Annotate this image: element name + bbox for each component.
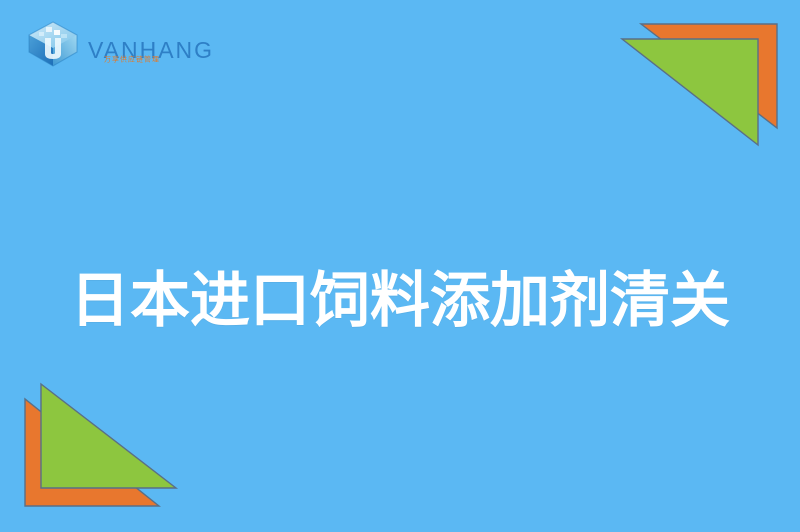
brand-subtitle: 万享供应链管理 [104,56,160,63]
page-title: 日本进口饲料添加剂清关 [70,268,730,335]
bottom-left-green-triangle [41,384,176,488]
slide-canvas: VANHANG 万享供应链管理 日本进口饲料添加剂清关 [0,0,800,532]
brand-logo-text: VANHANG 万享供应链管理 [88,39,214,62]
brand-logo: VANHANG 万享供应链管理 [24,18,214,80]
title-container: 日本进口饲料添加剂清关 [0,228,800,376]
bottom-left-orange-triangle [25,399,159,506]
vanhang-cube-logo-icon [24,18,82,80]
top-right-orange-triangle [641,24,777,128]
top-right-green-triangle [622,39,758,145]
